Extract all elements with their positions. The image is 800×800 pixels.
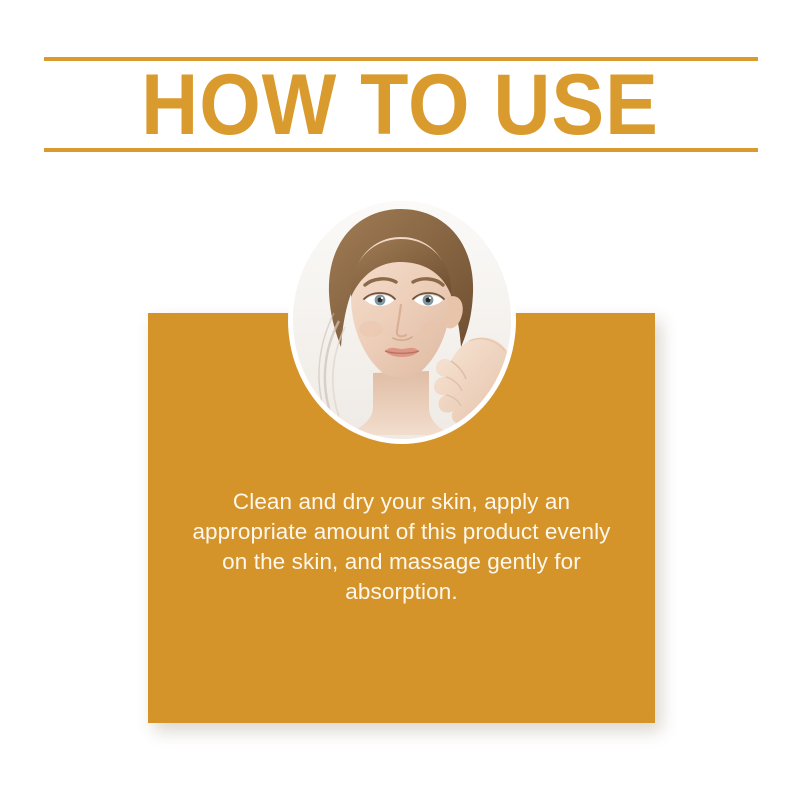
portrait-photo <box>293 201 511 439</box>
page-title: HOW TO USE <box>32 62 768 148</box>
instruction-text: Clean and dry your skin, apply an approp… <box>148 487 655 607</box>
portrait-container <box>288 196 516 444</box>
how-to-use-poster: HOW TO USE Clean and dry your skin, appl… <box>0 0 800 800</box>
bottom-divider-rule <box>44 148 758 152</box>
header-block: HOW TO USE <box>0 0 800 200</box>
